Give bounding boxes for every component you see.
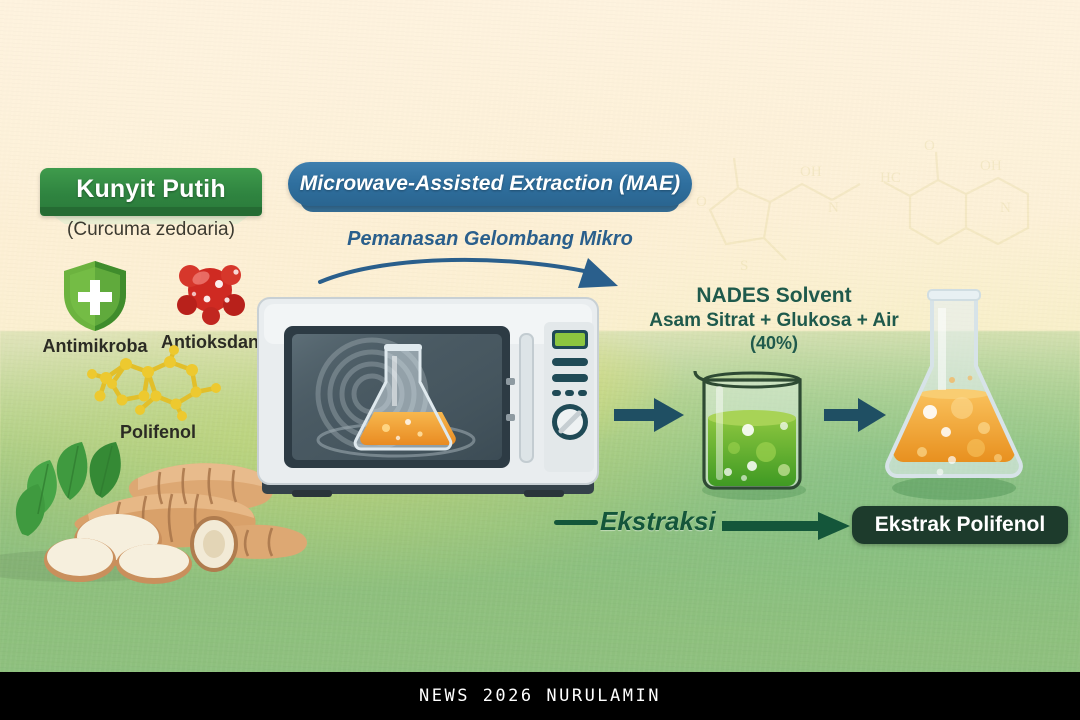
arrow-extraction-to-result: [722, 510, 850, 538]
nades-solvent-block: NADES Solvent Asam Sitrat + Glukosa + Ai…: [640, 284, 908, 354]
nades-composition: Asam Sitrat + Glukosa + Air: [640, 310, 908, 332]
microwave-oven: [256, 294, 600, 506]
chemical-structure-watermark-right: OOH NHC: [880, 138, 1080, 288]
arrow-beaker-to-flask: [824, 398, 886, 432]
control-panel: [544, 322, 594, 472]
svg-text:O: O: [924, 138, 935, 154]
caption-text: NEWS 2026 NURULAMIN: [419, 686, 661, 706]
property-antimicrobial: Antimikroba: [36, 258, 154, 357]
source-latin-name: (Curcuma zedoaria): [40, 219, 262, 241]
svg-text:HC: HC: [880, 170, 901, 186]
svg-text:N: N: [828, 200, 839, 216]
erlenmeyer-flask-extract: [878, 282, 1030, 504]
chemical-structure-watermark-left: OOH NS: [690, 140, 900, 290]
method-banner: Microwave-Assisted Extraction (MAE): [288, 162, 692, 206]
nades-concentration: (40%): [640, 333, 908, 354]
panel-indicator-dashes: [552, 390, 587, 396]
svg-text:S: S: [740, 258, 748, 274]
beaker-spout: [695, 371, 704, 380]
caption-bar: NEWS 2026 NURULAMIN: [0, 672, 1080, 720]
arrow-microwave-to-beaker: [614, 398, 684, 432]
svg-text:OH: OH: [800, 164, 822, 180]
result-label: Ekstrak Polifenol: [875, 513, 1045, 537]
infographic-canvas: OOH NS OOH NHC Kunyit Putih (Curcuma zed…: [0, 0, 1080, 720]
source-title-label: Kunyit Putih: [40, 168, 262, 216]
extraction-leading-dash: [554, 516, 598, 528]
molecule-cluster-icon: [170, 258, 250, 330]
svg-text:N: N: [1000, 200, 1011, 216]
polyphenol-structure-icon: [78, 348, 238, 420]
shield-plus-icon: [60, 258, 130, 334]
property-antioxidant: Antioksdan: [150, 258, 270, 353]
svg-text:O: O: [696, 194, 707, 210]
nades-title: NADES Solvent: [640, 284, 908, 308]
method-banner-label: Microwave-Assisted Extraction (MAE): [288, 162, 692, 206]
panel-button-row-1: [552, 358, 588, 366]
panel-button-row-2: [552, 374, 588, 382]
method-subtitle: Pemanasan Gelombang Mikro: [288, 228, 692, 251]
property-polyphenol: Polifenol: [78, 348, 238, 443]
svg-text:OH: OH: [980, 158, 1002, 174]
extraction-step-label: Ekstraksi: [600, 506, 716, 537]
result-pill: Ekstrak Polifenol: [852, 506, 1068, 544]
beaker-nades: [692, 360, 812, 500]
source-title-banner: Kunyit Putih: [40, 168, 262, 216]
